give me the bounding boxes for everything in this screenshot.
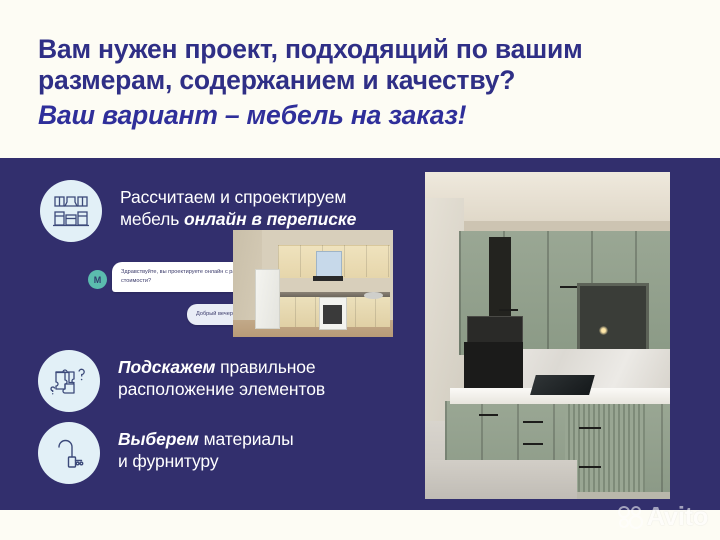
features-panel: Рассчитаем и спроектируем мебель онлайн … <box>0 158 720 510</box>
feature-1-text: Рассчитаем и спроектируем мебель онлайн … <box>120 180 356 230</box>
feature-1-line-2: мебель <box>120 209 184 229</box>
kitchen-photo <box>425 172 670 499</box>
kitchen-cabinets-icon <box>40 180 102 242</box>
feature-2-line-1-bold: Подскажем <box>118 357 215 377</box>
headline-accent: Ваш вариант – мебель на заказ! <box>38 96 688 132</box>
feature-1-line-1: Рассчитаем и спроектируем <box>120 187 346 207</box>
chat-avatar: M <box>88 270 107 289</box>
feature-item-materials: Выберем материалы и фурнитуру <box>38 422 294 484</box>
feature-3-line-1: материалы <box>199 429 294 449</box>
feature-2-line-2: расположение элементов <box>118 379 325 399</box>
faucet-icon <box>38 422 100 484</box>
kitchen-3d-render-thumbnail <box>233 230 393 337</box>
feature-3-line-1-bold: Выберем <box>118 429 199 449</box>
headline-line-1: Вам нужен проект, подходящий по вашим <box>38 34 688 65</box>
avito-watermark: Avito <box>618 501 708 532</box>
feature-3-line-2: и фурнитуру <box>118 451 219 471</box>
headline-block: Вам нужен проект, подходящий по вашим ра… <box>38 34 688 132</box>
avito-watermark-label: Avito <box>646 501 708 532</box>
feature-3-text: Выберем материалы и фурнитуру <box>118 422 294 472</box>
feature-2-line-1: правильное <box>215 357 315 377</box>
feature-1-line-2-bold: онлайн в переписке <box>184 209 356 229</box>
feature-2-text: Подскажем правильное расположение элемен… <box>118 350 325 400</box>
poster-canvas: Вам нужен проект, подходящий по вашим ра… <box>0 0 720 540</box>
puzzle-question-icon <box>38 350 100 412</box>
avito-logo-dots <box>618 505 644 529</box>
headline-line-2: размерам, содержанием и качеству? <box>38 65 688 96</box>
feature-item-layout-advice: Подскажем правильное расположение элемен… <box>38 350 325 412</box>
